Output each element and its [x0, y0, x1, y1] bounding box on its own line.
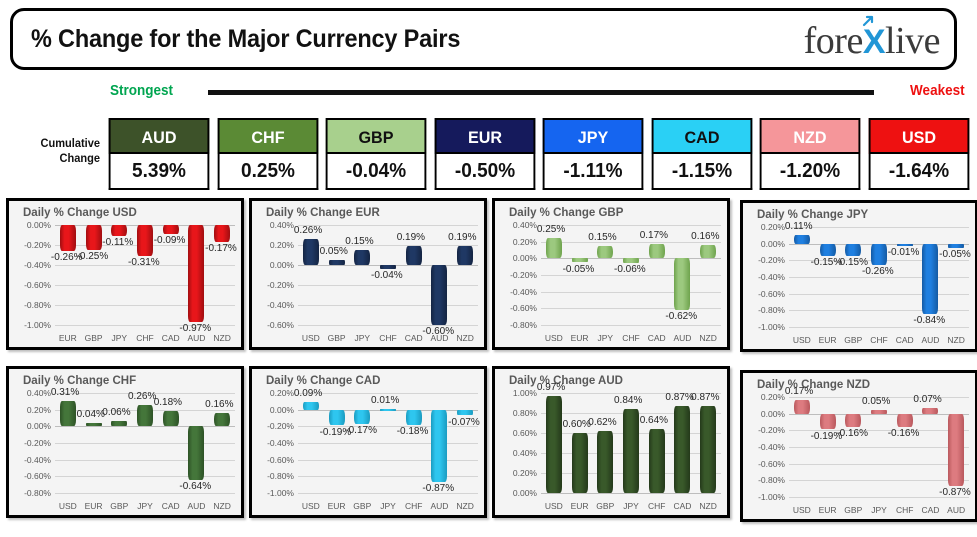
x-axis-tick-label-eur: EUR [815, 335, 841, 345]
y-axis-tick-label: -0.60% [510, 303, 537, 313]
x-axis-tick-label-jpy: JPY [618, 501, 644, 511]
bar-usd [303, 239, 319, 265]
bar-nzd [214, 225, 230, 242]
x-axis-tick-label-chf: CHF [644, 501, 670, 511]
x-axis-tick-label-nzd: NZD [452, 501, 478, 511]
bar-value-label-eur: 0.04% [77, 409, 105, 420]
chart-plot-area: 1.00%0.80%0.60%0.40%0.20%0.00%0.97%USD0.… [541, 393, 721, 493]
bar-value-label-eur: -0.05% [563, 264, 595, 275]
x-axis-tick-label-usd: USD [55, 501, 81, 511]
bar-value-label-chf: -0.06% [614, 264, 646, 275]
bar-value-label-gbp: 0.06% [102, 407, 130, 418]
bar-value-label-cad: 0.87% [665, 392, 693, 403]
bar-value-label-gbp: -0.16% [836, 428, 868, 439]
bar-cad [163, 225, 179, 234]
y-axis-tick-label: -0.40% [758, 272, 785, 282]
x-axis-tick-label-usd: USD [298, 333, 324, 343]
x-axis-tick-label-cad: CAD [158, 333, 184, 343]
x-axis-tick-label-chf: CHF [132, 333, 158, 343]
y-axis-tick-label: -0.40% [758, 442, 785, 452]
bar-value-label-nzd: 0.19% [448, 232, 476, 243]
y-axis-tick-label: 0.20% [761, 392, 785, 402]
x-axis-tick-label-cad: CAD [158, 501, 184, 511]
bar-aud [922, 244, 938, 314]
chart-plot-area: 0.20%0.00%-0.20%-0.40%-0.60%-0.80%-1.00%… [789, 397, 969, 497]
page-title: % Change for the Major Currency Pairs [31, 25, 460, 54]
y-axis-tick-label: -0.40% [24, 260, 51, 270]
x-axis-tick-label-chf: CHF [618, 333, 644, 343]
y-axis-tick-label: 0.40% [513, 220, 537, 230]
bar-value-label-cad: 0.07% [913, 394, 941, 405]
gridline [298, 476, 478, 477]
y-axis-tick-label: -0.60% [758, 459, 785, 469]
bar-chf [623, 258, 639, 263]
x-axis-tick-label-aud: AUD [184, 501, 210, 511]
gridline [55, 285, 235, 286]
x-axis-tick-label-nzd: NZD [452, 333, 478, 343]
currency-card-usd[interactable]: USD-1.64% [866, 118, 972, 190]
chart-plot-area: 0.20%0.00%-0.20%-0.40%-0.60%-0.80%-1.00%… [298, 393, 478, 493]
chart-plot-area: 0.20%0.00%-0.20%-0.40%-0.60%-0.80%-1.00%… [789, 227, 969, 327]
x-axis-tick-label-usd: USD [789, 335, 815, 345]
y-axis-tick-label: -0.80% [267, 471, 294, 481]
gridline [298, 285, 478, 286]
x-axis-tick-label-eur: EUR [81, 501, 107, 511]
y-axis-tick-label: -1.00% [267, 488, 294, 498]
y-axis-tick-label: -0.80% [24, 300, 51, 310]
x-axis-tick-label-eur: EUR [324, 501, 350, 511]
bar-value-label-aud: -0.62% [665, 311, 697, 322]
chart-panel-gbp: Daily % Change GBP0.40%0.20%0.00%-0.20%-… [492, 198, 730, 350]
x-axis-tick-label-gbp: GBP [592, 501, 618, 511]
strongest-label: Strongest [110, 82, 173, 99]
currency-code-cad: CAD [651, 118, 752, 154]
y-axis-tick-label: -0.20% [758, 425, 785, 435]
chart-panel-nzd: Daily % Change NZD0.20%0.00%-0.20%-0.40%… [740, 370, 977, 522]
y-axis-tick-label: 0.00% [27, 421, 51, 431]
x-axis-tick-label-jpy: JPY [106, 333, 132, 343]
strength-scale-row: Strongest Weakest [0, 82, 977, 108]
logo-text-prefix: fore [804, 20, 863, 62]
bar-value-label-chf: -0.18% [397, 426, 429, 437]
bar-value-label-nzd: -0.07% [448, 417, 480, 428]
currency-cumulative-value-eur: -0.50% [434, 154, 535, 190]
chart-plot-area: 0.40%0.20%0.00%-0.20%-0.40%-0.60%-0.80%0… [541, 225, 721, 325]
x-axis-tick-label-gbp: GBP [81, 333, 107, 343]
bar-gbp [111, 421, 127, 426]
cumulative-change-row: Cumulative Change AUD5.39%CHF0.25%GBP-0.… [0, 118, 977, 190]
chart-plot-area: 0.00%-0.20%-0.40%-0.60%-0.80%-1.00%-0.26… [55, 225, 235, 325]
weakest-label: Weakest [910, 82, 965, 99]
gridline [55, 493, 235, 494]
bar-value-label-cad: -0.09% [154, 235, 186, 246]
y-axis-tick-label: -0.80% [758, 305, 785, 315]
bar-value-label-eur: 0.60% [563, 419, 591, 430]
y-axis-tick-label: 0.80% [513, 408, 537, 418]
bar-value-label-chf: -0.16% [888, 428, 920, 439]
gridline [789, 294, 969, 295]
gridline [298, 443, 478, 444]
bar-value-label-cad: 0.19% [397, 232, 425, 243]
bar-aud [431, 410, 447, 483]
y-axis-tick-label: -1.00% [24, 320, 51, 330]
bar-value-label-jpy: -0.11% [102, 237, 133, 248]
y-axis-tick-label: -0.20% [267, 280, 294, 290]
x-axis-tick-label-usd: USD [541, 333, 567, 343]
y-axis-tick-label: -0.40% [267, 300, 294, 310]
x-axis-tick-label-jpy: JPY [349, 333, 375, 343]
x-axis-tick-label-jpy: JPY [592, 333, 618, 343]
currency-card-chf[interactable]: CHF0.25% [215, 118, 321, 190]
x-axis-tick-label-aud: AUD [918, 335, 944, 345]
x-axis-tick-label-usd: USD [541, 501, 567, 511]
chart-title: Daily % Change AUD [509, 375, 623, 387]
bar-chf [871, 244, 887, 266]
bar-aud [188, 426, 204, 479]
x-axis-tick-label-gbp: GBP [840, 505, 866, 515]
bar-jpy [111, 225, 127, 236]
currency-code-nzd: NZD [760, 118, 861, 154]
x-axis-tick-label-chf: CHF [375, 333, 401, 343]
bar-gbp [597, 431, 613, 493]
y-axis-tick-label: -0.40% [24, 455, 51, 465]
x-axis-tick-label-eur: EUR [55, 333, 81, 343]
y-axis-tick-label: -0.80% [510, 320, 537, 330]
bar-value-label-cad: -0.01% [888, 247, 920, 258]
gridline [55, 426, 235, 427]
y-axis-tick-label: 0.40% [270, 220, 294, 230]
gridline [541, 225, 721, 226]
currency-code-gbp: GBP [326, 118, 427, 154]
currency-code-chf: CHF [217, 118, 318, 154]
bar-usd [794, 400, 810, 414]
x-axis-tick-label-aud: AUD [670, 333, 696, 343]
chart-title: Daily % Change GBP [509, 207, 623, 219]
chart-panel-chf: Daily % Change CHF0.40%0.20%0.00%-0.20%-… [6, 366, 244, 518]
bar-usd [60, 401, 76, 427]
gridline [789, 447, 969, 448]
bar-eur [329, 410, 345, 426]
bar-value-label-usd: 0.26% [294, 225, 322, 236]
bar-gbp [86, 225, 102, 250]
currency-code-aud: AUD [109, 118, 210, 154]
bar-jpy [354, 250, 370, 265]
bar-eur [86, 423, 102, 426]
y-axis-tick-label: 0.40% [27, 388, 51, 398]
bar-gbp [845, 244, 861, 257]
bar-value-label-jpy: 0.01% [371, 395, 399, 406]
currency-code-usd: USD [868, 118, 969, 154]
y-axis-tick-label: 0.40% [513, 448, 537, 458]
bar-cad [163, 411, 179, 426]
chart-panel-jpy: Daily % Change JPY0.20%0.00%-0.20%-0.40%… [740, 200, 977, 352]
x-axis-tick-label-aud: AUD [427, 333, 453, 343]
bar-cad [674, 406, 690, 493]
chart-title: Daily % Change CAD [266, 375, 380, 387]
bar-value-label-jpy: 0.15% [588, 232, 616, 243]
bar-value-label-nzd: -0.17% [205, 243, 237, 254]
header-banner: % Change for the Major Currency Pairs fo… [10, 8, 957, 70]
gridline [789, 480, 969, 481]
y-axis-tick-label: 0.20% [270, 388, 294, 398]
bar-value-label-aud: -0.87% [939, 487, 971, 498]
bar-usd [546, 238, 562, 259]
y-axis-tick-label: 0.00% [513, 253, 537, 263]
x-axis-tick-label-aud: AUD [184, 333, 210, 343]
x-axis-tick-label-cad: CAD [670, 501, 696, 511]
bar-value-label-chf: -0.04% [371, 270, 403, 281]
bar-value-label-jpy: 0.05% [862, 396, 890, 407]
currency-card-eur[interactable]: EUR-0.50% [432, 118, 538, 190]
chart-panel-usd: Daily % Change USD0.00%-0.20%-0.40%-0.60… [6, 198, 244, 350]
bar-chf [406, 410, 422, 425]
bar-value-label-usd: 0.09% [294, 388, 322, 399]
gridline [55, 476, 235, 477]
bar-jpy [871, 410, 887, 414]
bar-value-label-chf: -0.31% [128, 257, 160, 268]
cumulative-label-line1: Cumulative [8, 136, 100, 151]
bar-value-label-usd: 0.25% [537, 224, 565, 235]
chart-title: Daily % Change JPY [757, 209, 868, 221]
x-axis-tick-label-gbp: GBP [324, 333, 350, 343]
gridline [789, 464, 969, 465]
gridline [541, 493, 721, 494]
gridline [789, 414, 969, 415]
currency-cumulative-value-chf: 0.25% [217, 154, 318, 190]
bar-value-label-aud: -0.84% [913, 315, 945, 326]
bar-value-label-nzd: 0.16% [205, 399, 233, 410]
y-axis-tick-label: -0.20% [24, 240, 51, 250]
bar-value-label-aud: -0.87% [422, 483, 454, 494]
bar-value-label-usd: 0.97% [537, 382, 565, 393]
bar-chf [897, 414, 913, 427]
forexlive-logo: foreXlive [804, 19, 940, 64]
y-axis-tick-label: 0.00% [761, 409, 785, 419]
bar-cad [649, 244, 665, 258]
gridline [298, 225, 478, 226]
x-axis-tick-label-usd: USD [298, 501, 324, 511]
x-axis-tick-label-jpy: JPY [866, 505, 892, 515]
y-axis-tick-label: -0.60% [24, 280, 51, 290]
currency-card-aud[interactable]: AUD5.39% [106, 118, 212, 190]
bar-value-label-chf: -0.26% [862, 266, 894, 277]
y-axis-tick-label: 0.00% [27, 220, 51, 230]
y-axis-tick-label: 0.20% [513, 237, 537, 247]
chart-title: Daily % Change CHF [23, 375, 136, 387]
cumulative-change-label: Cumulative Change [8, 136, 100, 166]
y-axis-tick-label: 1.00% [513, 388, 537, 398]
currency-cumulative-value-usd: -1.64% [868, 154, 969, 190]
x-axis-tick-label-gbp: GBP [840, 335, 866, 345]
bar-nzd [948, 244, 964, 248]
bar-value-label-jpy: 0.26% [128, 391, 156, 402]
y-axis-tick-label: 0.20% [513, 468, 537, 478]
gridline [55, 305, 235, 306]
x-axis-tick-label-chf: CHF [401, 501, 427, 511]
bar-value-label-cad: 0.18% [154, 397, 182, 408]
bar-chf [137, 225, 153, 256]
y-axis-tick-label: -0.40% [510, 287, 537, 297]
x-axis-tick-label-jpy: JPY [375, 501, 401, 511]
gridline [789, 227, 969, 228]
gridline [55, 460, 235, 461]
y-axis-tick-label: 0.00% [513, 488, 537, 498]
bar-value-label-gbp: -0.25% [77, 251, 109, 262]
x-axis-tick-label-gbp: GBP [106, 501, 132, 511]
y-axis-tick-label: 0.00% [270, 260, 294, 270]
x-axis-tick-label-nzd: NZD [695, 333, 721, 343]
bar-aud [431, 265, 447, 325]
bar-value-label-usd: 0.31% [51, 387, 79, 398]
gridline [298, 460, 478, 461]
bar-aud [674, 258, 690, 310]
y-axis-tick-label: -0.60% [758, 289, 785, 299]
currency-card-nzd[interactable]: NZD-1.20% [757, 118, 863, 190]
bar-value-label-jpy: 0.15% [345, 236, 373, 247]
chart-title: Daily % Change EUR [266, 207, 380, 219]
bar-value-label-gbp: 0.62% [588, 417, 616, 428]
bar-eur [820, 244, 836, 257]
y-axis-tick-label: -0.60% [267, 320, 294, 330]
bar-chf [380, 265, 396, 269]
y-axis-tick-label: -0.20% [267, 421, 294, 431]
y-axis-tick-label: -0.20% [24, 438, 51, 448]
chart-panel-cad: Daily % Change CAD0.20%0.00%-0.20%-0.40%… [249, 366, 487, 518]
bar-nzd [457, 410, 473, 416]
x-axis-tick-label-chf: CHF [866, 335, 892, 345]
cumulative-label-line2: Change [8, 151, 100, 166]
chart-panel-eur: Daily % Change EUR0.40%0.20%0.00%-0.20%-… [249, 198, 487, 350]
y-axis-tick-label: 0.00% [761, 239, 785, 249]
x-axis-tick-label-usd: USD [789, 505, 815, 515]
x-axis-tick-label-gbp: GBP [349, 501, 375, 511]
bar-nzd [700, 245, 716, 258]
bar-aud [188, 225, 204, 322]
gridline [789, 327, 969, 328]
x-axis-tick-label-jpy: JPY [132, 501, 158, 511]
bar-cad [406, 246, 422, 265]
y-axis-tick-label: 0.20% [27, 405, 51, 415]
bar-gbp [354, 410, 370, 424]
x-axis-tick-label-aud: AUD [427, 501, 453, 511]
bar-nzd [457, 246, 473, 265]
bar-chf [649, 429, 665, 493]
arrow-up-right-icon [861, 14, 875, 28]
bar-eur [820, 414, 836, 430]
chart-title: Daily % Change NZD [757, 379, 870, 391]
y-axis-tick-label: -0.80% [758, 475, 785, 485]
bar-usd [794, 235, 810, 244]
bar-eur [572, 433, 588, 493]
y-axis-tick-label: 0.20% [761, 222, 785, 232]
bar-nzd [700, 406, 716, 493]
x-axis-tick-label-nzd: NZD [209, 501, 235, 511]
y-axis-tick-label: -0.40% [267, 438, 294, 448]
currency-code-jpy: JPY [543, 118, 644, 154]
bar-cad [897, 244, 913, 247]
x-axis-tick-label-cad: CAD [892, 335, 918, 345]
chart-plot-area: 0.40%0.20%0.00%-0.20%-0.40%-0.60%-0.80%0… [55, 393, 235, 493]
gridline [298, 305, 478, 306]
x-axis-tick-label-cad: CAD [918, 505, 944, 515]
bar-value-label-nzd: -0.05% [939, 249, 971, 260]
gridline [541, 308, 721, 309]
gridline [541, 325, 721, 326]
bar-value-label-nzd: 0.16% [691, 231, 719, 242]
currency-cumulative-value-gbp: -0.04% [326, 154, 427, 190]
x-axis-tick-label-eur: EUR [815, 505, 841, 515]
currency-cumulative-value-jpy: -1.11% [543, 154, 644, 190]
bar-eur [60, 225, 76, 251]
strength-scale-line [208, 90, 874, 95]
x-axis-tick-label-nzd: NZD [943, 335, 969, 345]
bar-gbp [845, 414, 861, 427]
y-axis-tick-label: 0.60% [513, 428, 537, 438]
y-axis-tick-label: -0.80% [24, 488, 51, 498]
currency-cumulative-value-nzd: -1.20% [760, 154, 861, 190]
y-axis-tick-label: 0.00% [270, 405, 294, 415]
bar-jpy [137, 405, 153, 427]
currency-cumulative-value-cad: -1.15% [651, 154, 752, 190]
currency-card-gbp[interactable]: GBP-0.04% [323, 118, 429, 190]
x-axis-tick-label-nzd: NZD [695, 501, 721, 511]
chart-plot-area: 0.40%0.20%0.00%-0.20%-0.40%-0.60%0.26%US… [298, 225, 478, 325]
y-axis-tick-label: -0.60% [267, 455, 294, 465]
bar-jpy [380, 409, 396, 412]
bar-value-label-nzd: 0.87% [691, 392, 719, 403]
x-axis-tick-label-eur: EUR [567, 501, 593, 511]
y-axis-tick-label: 0.20% [270, 240, 294, 250]
bar-value-label-cad: 0.17% [640, 230, 668, 241]
currency-cumulative-value-aud: 5.39% [109, 154, 210, 190]
x-axis-tick-label-aud: AUD [943, 505, 969, 515]
y-axis-tick-label: -0.20% [758, 255, 785, 265]
currency-code-eur: EUR [434, 118, 535, 154]
logo-text-suffix: live [885, 20, 940, 62]
x-axis-tick-label-nzd: NZD [209, 333, 235, 343]
y-axis-tick-label: -1.00% [758, 492, 785, 502]
bar-gbp [329, 260, 345, 265]
chart-title: Daily % Change USD [23, 207, 137, 219]
x-axis-tick-label-chf: CHF [892, 505, 918, 515]
logo-x-letter: X [863, 23, 885, 61]
gridline [55, 443, 235, 444]
bar-value-label-usd: 0.11% [785, 221, 813, 232]
chart-panel-aud: Daily % Change AUD1.00%0.80%0.60%0.40%0.… [492, 366, 730, 518]
bar-eur [572, 258, 588, 262]
y-axis-tick-label: -1.00% [758, 322, 785, 332]
bar-value-label-gbp: 0.05% [320, 246, 348, 257]
bar-usd [303, 402, 319, 410]
x-axis-tick-label-eur: EUR [567, 333, 593, 343]
x-axis-tick-label-cad: CAD [644, 333, 670, 343]
currency-card-jpy[interactable]: JPY-1.11% [540, 118, 646, 190]
bar-value-label-gbp: -0.17% [345, 425, 377, 436]
gridline [541, 292, 721, 293]
bar-cad [922, 408, 938, 414]
gridline [789, 310, 969, 311]
bar-nzd [214, 413, 230, 426]
y-axis-tick-label: -0.60% [24, 471, 51, 481]
currency-card-cad[interactable]: CAD-1.15% [649, 118, 755, 190]
bar-value-label-jpy: 0.84% [614, 395, 642, 406]
bar-value-label-chf: 0.64% [640, 415, 668, 426]
bar-aud [948, 414, 964, 487]
y-axis-tick-label: -0.20% [510, 270, 537, 280]
bar-usd [546, 396, 562, 493]
logo-x-arrow-icon: X [863, 23, 885, 61]
bar-value-label-usd: 0.17% [785, 386, 813, 397]
